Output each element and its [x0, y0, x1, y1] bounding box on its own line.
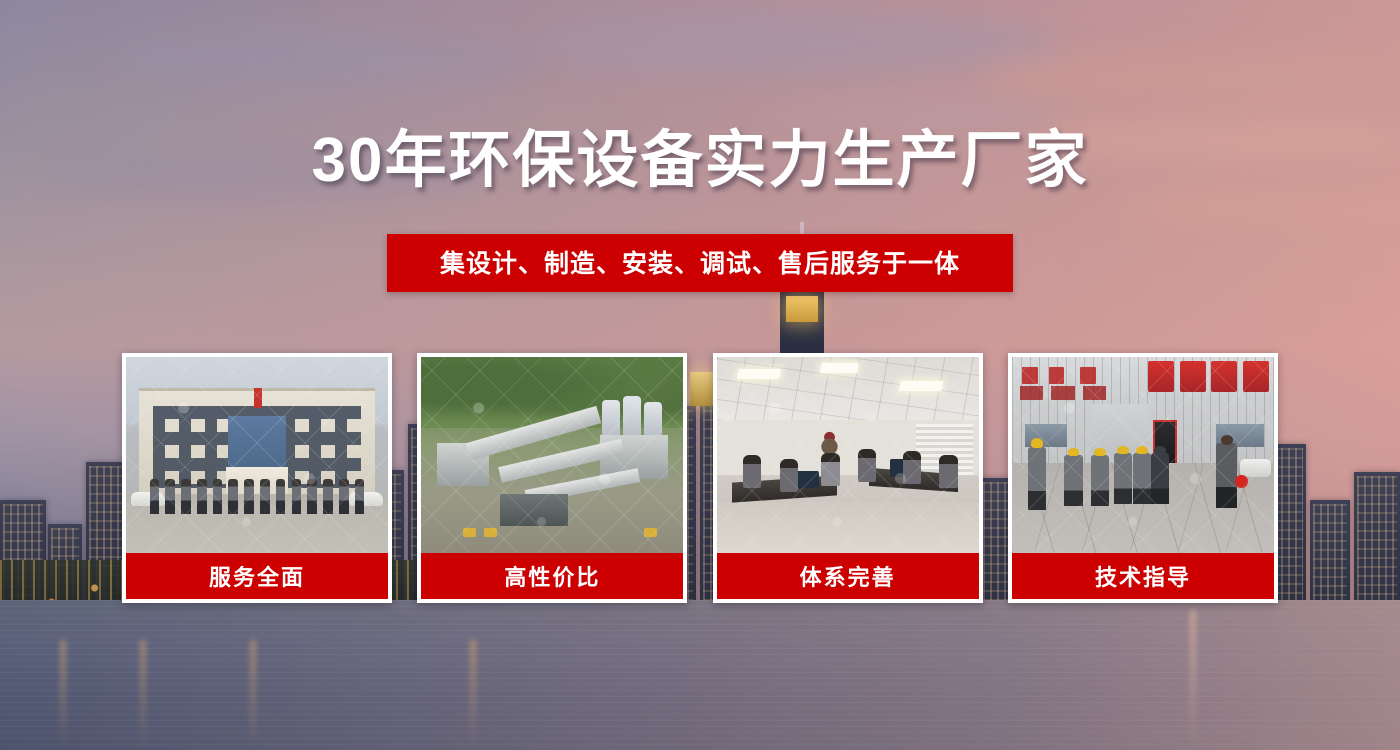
photo-monitor — [795, 471, 819, 489]
photo-worker — [1133, 453, 1151, 504]
photo-person — [339, 479, 349, 514]
photo-car — [1240, 459, 1271, 477]
card-caption: 服务全面 — [126, 553, 388, 599]
photo-person — [260, 479, 270, 514]
photo-artwork — [1012, 357, 1274, 553]
photo-person — [821, 453, 839, 486]
cloud-shape — [120, 30, 540, 90]
technical-training-photo — [1012, 357, 1274, 553]
photo-person — [213, 479, 223, 514]
photo-person — [165, 479, 175, 514]
photo-silo — [623, 396, 641, 435]
photo-person — [939, 455, 957, 488]
photo-tag-text — [1022, 367, 1038, 385]
card-caption: 体系完善 — [717, 553, 979, 599]
photo-light — [736, 369, 780, 379]
photo-tag-text — [1049, 367, 1065, 385]
photo-red-helmet — [1235, 475, 1248, 489]
office-interior-photo — [717, 357, 979, 553]
photo-person — [276, 479, 286, 514]
photo-floor — [717, 502, 979, 553]
photo-person — [150, 479, 160, 514]
photo-person — [197, 479, 207, 514]
photo-worker — [1028, 447, 1046, 510]
photo-light — [899, 381, 943, 391]
photo-shed — [500, 494, 568, 525]
card-caption: 技术指导 — [1012, 553, 1274, 599]
photo-person — [307, 479, 317, 514]
subtitle-banner: 集设计、制造、安装、调试、售后服务于一体 — [387, 234, 1013, 292]
photo-tag-text — [1083, 386, 1107, 400]
light-reflection — [60, 640, 66, 750]
photo-worker — [1151, 453, 1169, 504]
photo-instructor — [1216, 443, 1237, 508]
light-reflection — [250, 640, 256, 750]
river-water — [0, 600, 1400, 750]
photo-tag-text — [1051, 386, 1075, 400]
photo-person — [743, 455, 761, 488]
photo-person — [228, 479, 238, 514]
feature-card-system[interactable]: 体系完善 — [713, 353, 983, 603]
photo-silo — [602, 400, 620, 435]
photo-staff-row — [150, 479, 365, 514]
company-headquarters-photo — [126, 357, 388, 553]
photo-slogan-char — [1180, 361, 1206, 392]
photo-person — [355, 479, 365, 514]
photo-machine — [484, 528, 497, 538]
photo-artwork — [126, 357, 388, 553]
photo-machine — [463, 528, 476, 538]
photo-person — [244, 479, 254, 514]
photo-artwork — [421, 357, 683, 553]
photo-slogan-char — [1211, 361, 1237, 392]
feature-card-service[interactable]: 服务全面 — [122, 353, 392, 603]
photo-person — [292, 479, 302, 514]
hero-banner: 30年环保设备实力生产厂家 集设计、制造、安装、调试、售后服务于一体 — [0, 0, 1400, 750]
light-reflection — [140, 640, 146, 750]
light-reflection — [470, 640, 476, 750]
photo-worker — [1114, 453, 1132, 504]
photo-tag-text — [1020, 386, 1044, 400]
page-title: 30年环保设备实力生产厂家 — [0, 128, 1400, 193]
production-plant-aerial-photo — [421, 357, 683, 553]
photo-person — [903, 451, 921, 484]
photo-worker — [1064, 455, 1082, 506]
photo-person — [858, 449, 876, 482]
cloud-shape — [1120, 190, 1400, 224]
building-shape — [1354, 472, 1400, 620]
feature-card-training[interactable]: 技术指导 — [1008, 353, 1278, 603]
photo-person — [780, 459, 798, 492]
feature-card-row: 服务全面 — [122, 353, 1278, 603]
photo-machine — [644, 528, 657, 538]
photo-slogan-char — [1243, 361, 1269, 392]
card-caption: 高性价比 — [421, 553, 683, 599]
light-reflection — [1190, 610, 1196, 750]
feature-card-value[interactable]: 高性价比 — [417, 353, 687, 603]
photo-person — [323, 479, 333, 514]
cloud-shape — [980, 52, 1400, 104]
photo-light — [821, 363, 859, 373]
photo-artwork — [717, 357, 979, 553]
photo-silo — [644, 402, 662, 435]
photo-person — [181, 479, 191, 514]
photo-tag-text — [1080, 367, 1096, 385]
cloud-shape — [540, 8, 1060, 78]
photo-flag — [254, 388, 262, 408]
photo-slogan-char — [1148, 361, 1174, 392]
subtitle-text: 集设计、制造、安装、调试、售后服务于一体 — [440, 250, 960, 278]
photo-worker — [1091, 455, 1109, 506]
